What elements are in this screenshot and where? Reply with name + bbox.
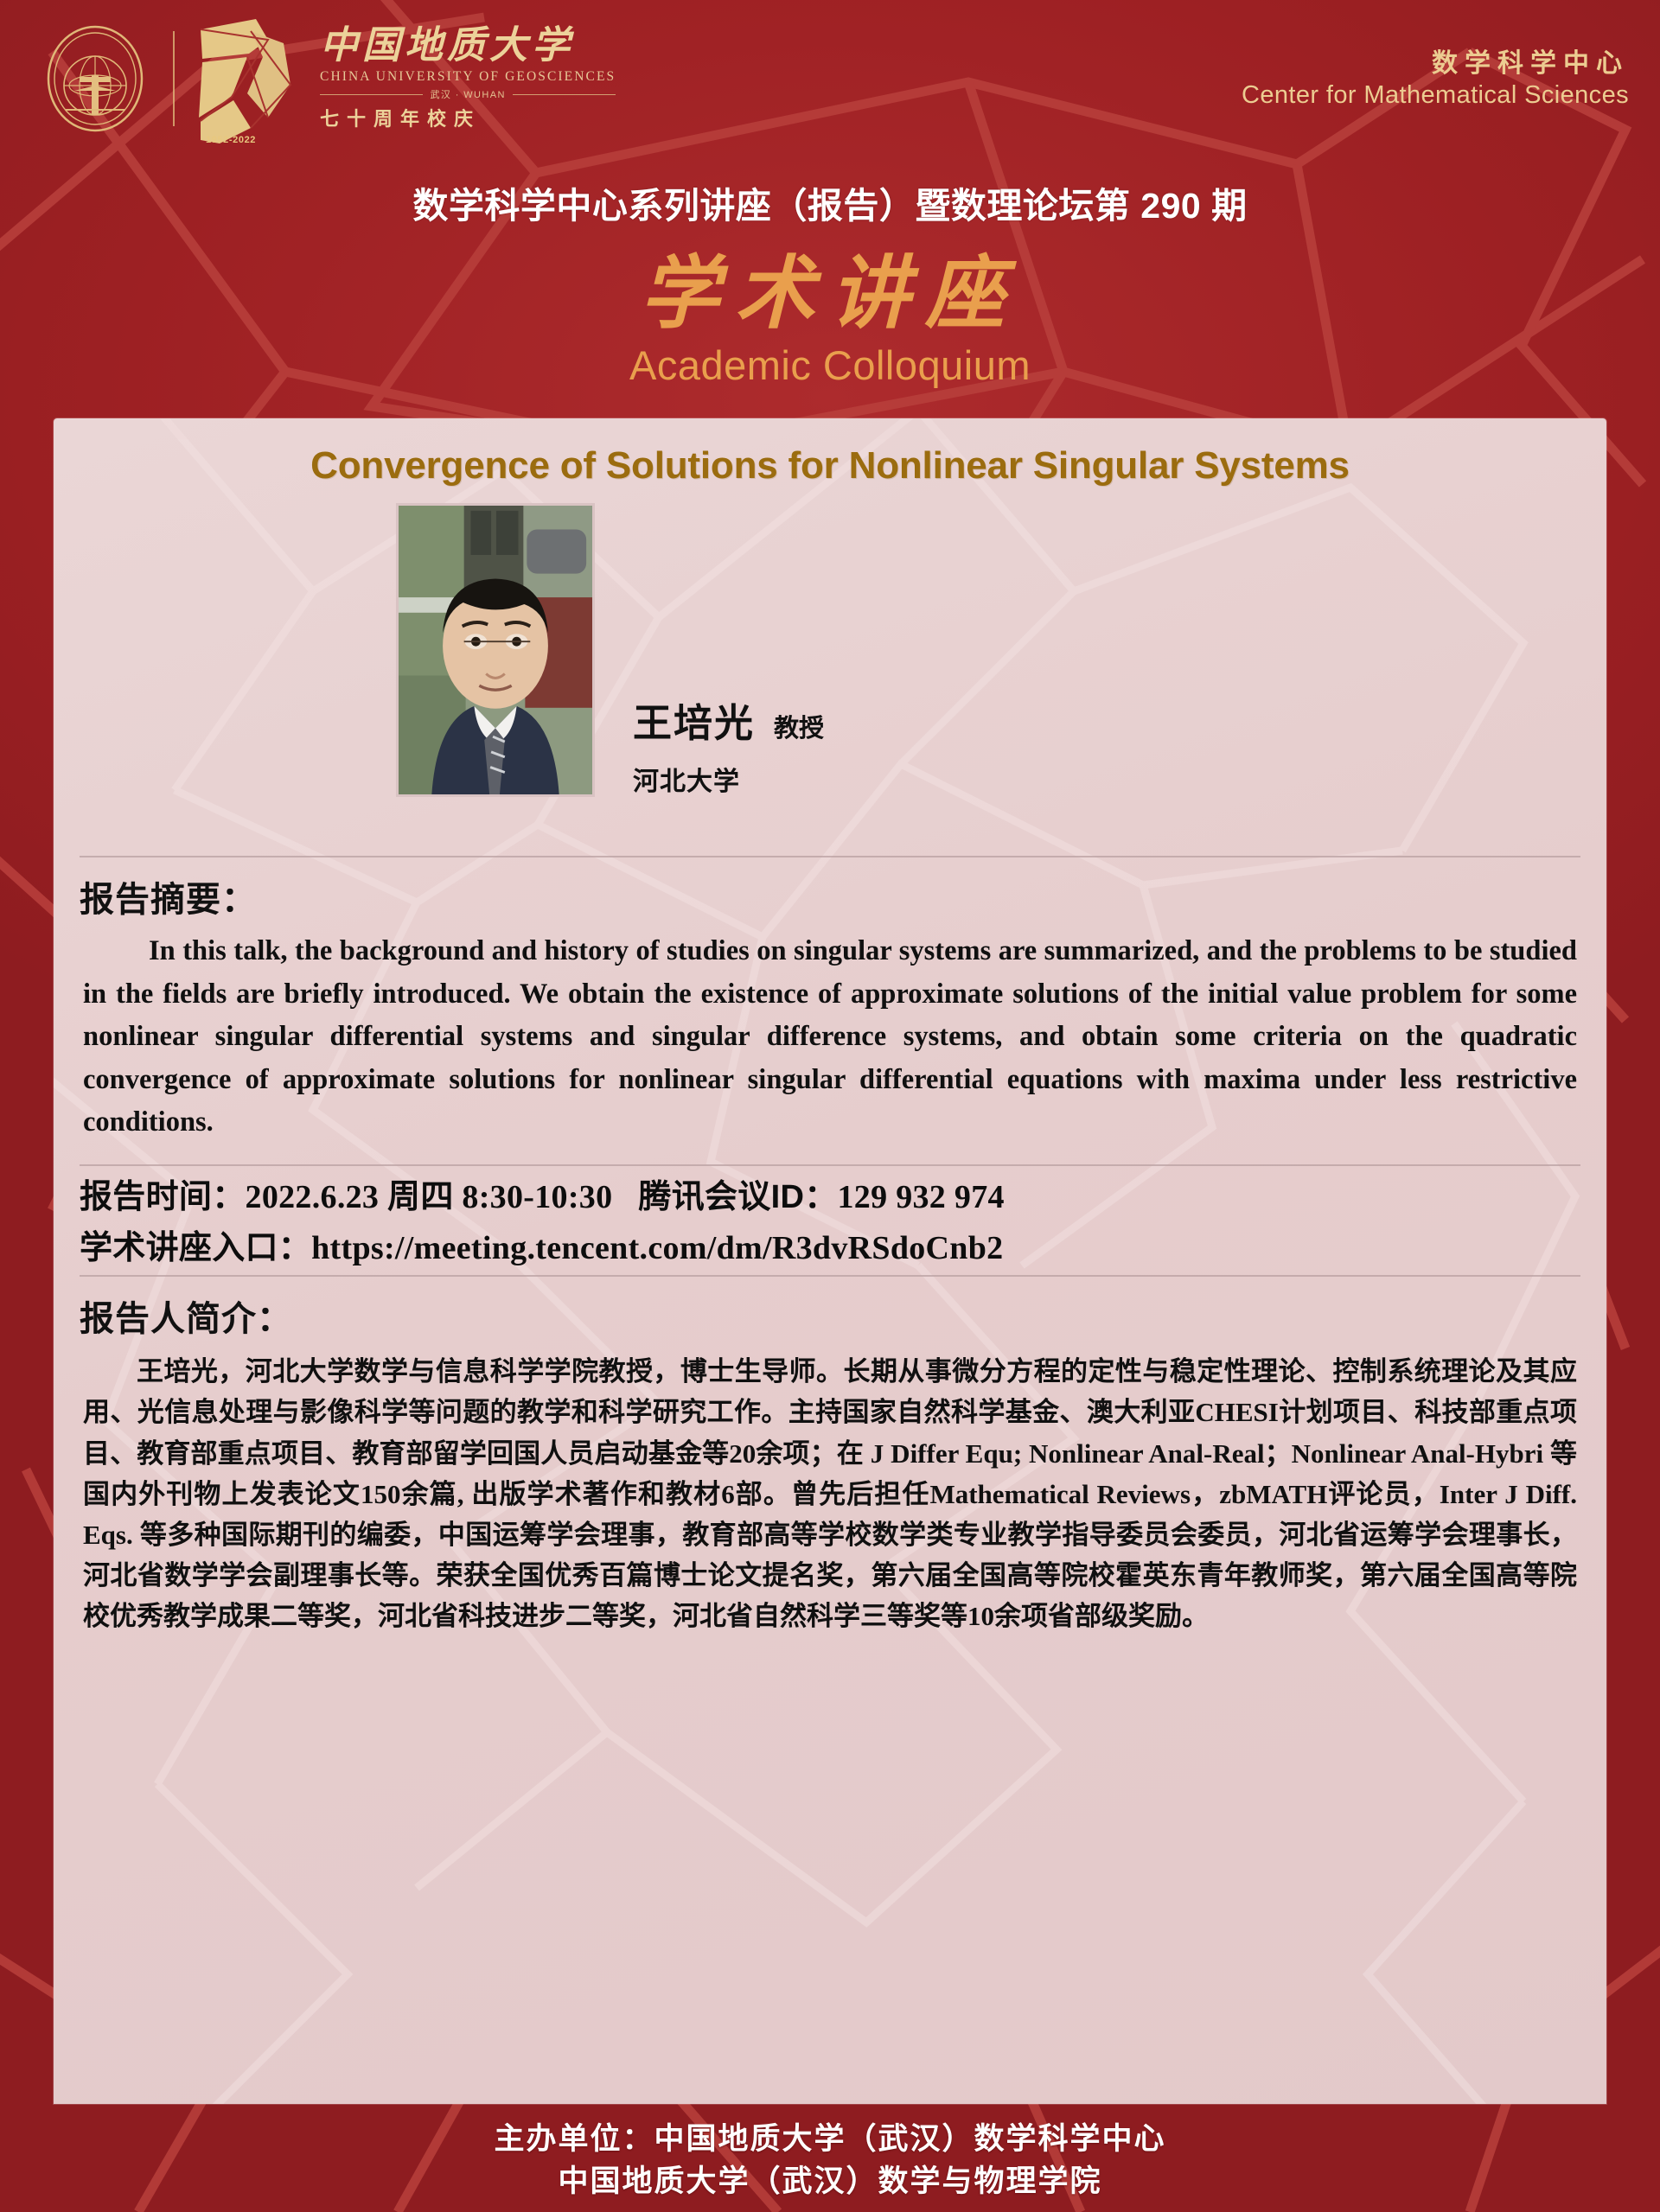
rule-left (320, 94, 423, 95)
speaker-portrait-photo (396, 503, 595, 797)
speaker-meta: 王培光 教授 河北大学 (633, 692, 824, 798)
meeting-time-line: 报告时间：2022.6.23 周四 8:30-10:30腾讯会议ID：129 9… (80, 1170, 1580, 1217)
speaker-rank: 教授 (774, 708, 824, 744)
anniversary-years: 1952-2022 (206, 135, 256, 145)
center-name-block: 数学科学中心 Center for Mathematical Sciences (1242, 48, 1634, 111)
footer-organizer-line-2: 中国地质大学（武汉）数学与物理学院 (0, 2160, 1660, 2203)
abstract-label: 报告摘要： (80, 871, 1580, 921)
meeting-time-value: 2022.6.23 周四 8:30-10:30 (246, 1179, 613, 1215)
content-card: Convergence of Solutions for Nonlinear S… (54, 418, 1606, 2104)
university-logo-group: 1952-2022 中国地质大学 CHINA UNIVERSITY OF GEO… (40, 14, 616, 143)
university-seal-icon (40, 23, 150, 134)
university-name-en: CHINA UNIVERSITY OF GEOSCIENCES (320, 69, 616, 85)
footer-organizer-line-1: 主办单位：中国地质大学（武汉）数学科学中心 (0, 2118, 1660, 2161)
speaker-block: 王培光 教授 河北大学 (80, 503, 1580, 849)
meeting-id-label: 腾讯会议ID： (638, 1179, 837, 1215)
rule-right (513, 94, 616, 95)
poster-header: 1952-2022 中国地质大学 CHINA UNIVERSITY OF GEO… (0, 0, 1660, 157)
university-name-cn: 中国地质大学 (320, 26, 616, 66)
meeting-id-value: 129 932 974 (838, 1179, 1005, 1215)
divider-above-bio (80, 1275, 1580, 1277)
speaker-name-row: 王培光 教授 (633, 692, 824, 748)
center-name-cn: 数学科学中心 (1242, 48, 1629, 80)
logo-divider (173, 31, 175, 126)
university-anniversary-cn: 七十周年校庆 (320, 104, 616, 131)
70th-anniversary-emblem-icon: 1952-2022 (194, 14, 306, 143)
poster-main-title-en: Academic Colloquium (0, 341, 1660, 389)
meeting-entry-label: 学术讲座入口： (80, 1230, 311, 1266)
bio-text: 王培光，河北大学数学与信息科学学院教授，博士生导师。长期从事微分方程的定性与稳定… (80, 1348, 1580, 1654)
meeting-entry-url[interactable]: https://meeting.tencent.com/dm/R3dvRSdoC… (311, 1230, 1003, 1266)
meeting-entry-line: 学术讲座入口：https://meeting.tencent.com/dm/R3… (80, 1221, 1580, 1268)
bio-label: 报告人简介： (80, 1291, 1580, 1341)
divider-above-meeting (80, 1164, 1580, 1166)
series-line: 数学科学中心系列讲座（报告）暨数理论坛第 290 期 (0, 176, 1660, 228)
poster-root: 1952-2022 中国地质大学 CHINA UNIVERSITY OF GEO… (0, 0, 1660, 2212)
meeting-time-label: 报告时间： (80, 1179, 246, 1215)
talk-title: Convergence of Solutions for Nonlinear S… (80, 418, 1580, 494)
abstract-text: In this talk, the background and history… (80, 928, 1580, 1157)
university-city: 武汉 · WUHAN (430, 87, 505, 101)
poster-footer: 主办单位：中国地质大学（武汉）数学科学中心 中国地质大学（武汉）数学与物理学院 (0, 2118, 1660, 2203)
speaker-name: 王培光 (633, 692, 755, 748)
university-city-row: 武汉 · WUHAN (320, 87, 616, 101)
poster-main-title-cn: 学术讲座 (0, 251, 1660, 336)
speaker-affiliation: 河北大学 (633, 760, 824, 798)
center-name-en: Center for Mathematical Sciences (1242, 81, 1629, 110)
divider-above-abstract (80, 856, 1580, 857)
university-name-block: 中国地质大学 CHINA UNIVERSITY OF GEOSCIENCES 武… (320, 26, 616, 131)
